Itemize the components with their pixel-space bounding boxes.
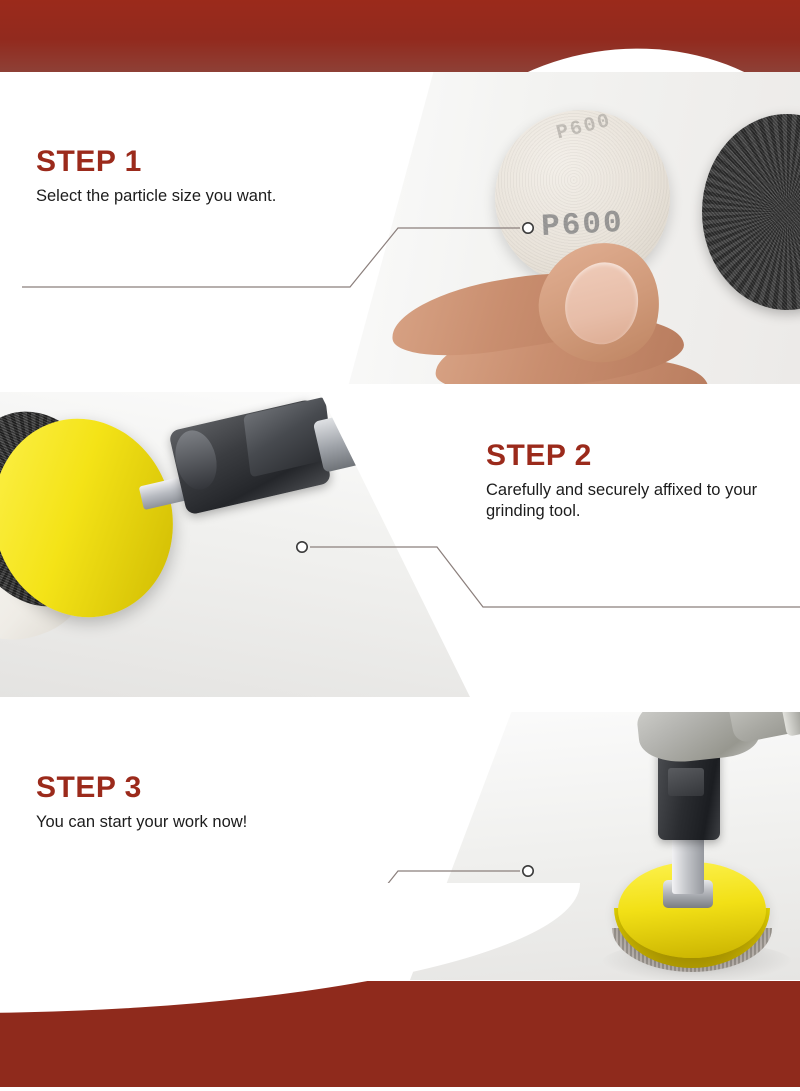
step-3-title: STEP 3: [36, 772, 336, 804]
step-2-section: STEP 2 Carefully and securely affixed to…: [0, 392, 800, 697]
step-1-section: STEP 1 Select the particle size you want…: [0, 72, 800, 384]
step-2-description: Carefully and securely affixed to your g…: [486, 480, 776, 524]
step-1-title: STEP 1: [36, 146, 336, 178]
infographic-page: P600 P600 STEP 1 Select the particle siz…: [0, 0, 800, 1091]
step-1-text-block: STEP 1 Select the particle size you want…: [36, 146, 336, 207]
step-1-description: Select the particle size you want.: [36, 186, 336, 208]
step-3-text-block: STEP 3 You can start your work now!: [36, 772, 336, 833]
step-3-description: You can start your work now!: [36, 812, 336, 834]
bottom-edge-hairline: [0, 1087, 800, 1091]
step-2-text-block: STEP 2 Carefully and securely affixed to…: [486, 440, 776, 523]
step-2-title: STEP 2: [486, 440, 776, 472]
